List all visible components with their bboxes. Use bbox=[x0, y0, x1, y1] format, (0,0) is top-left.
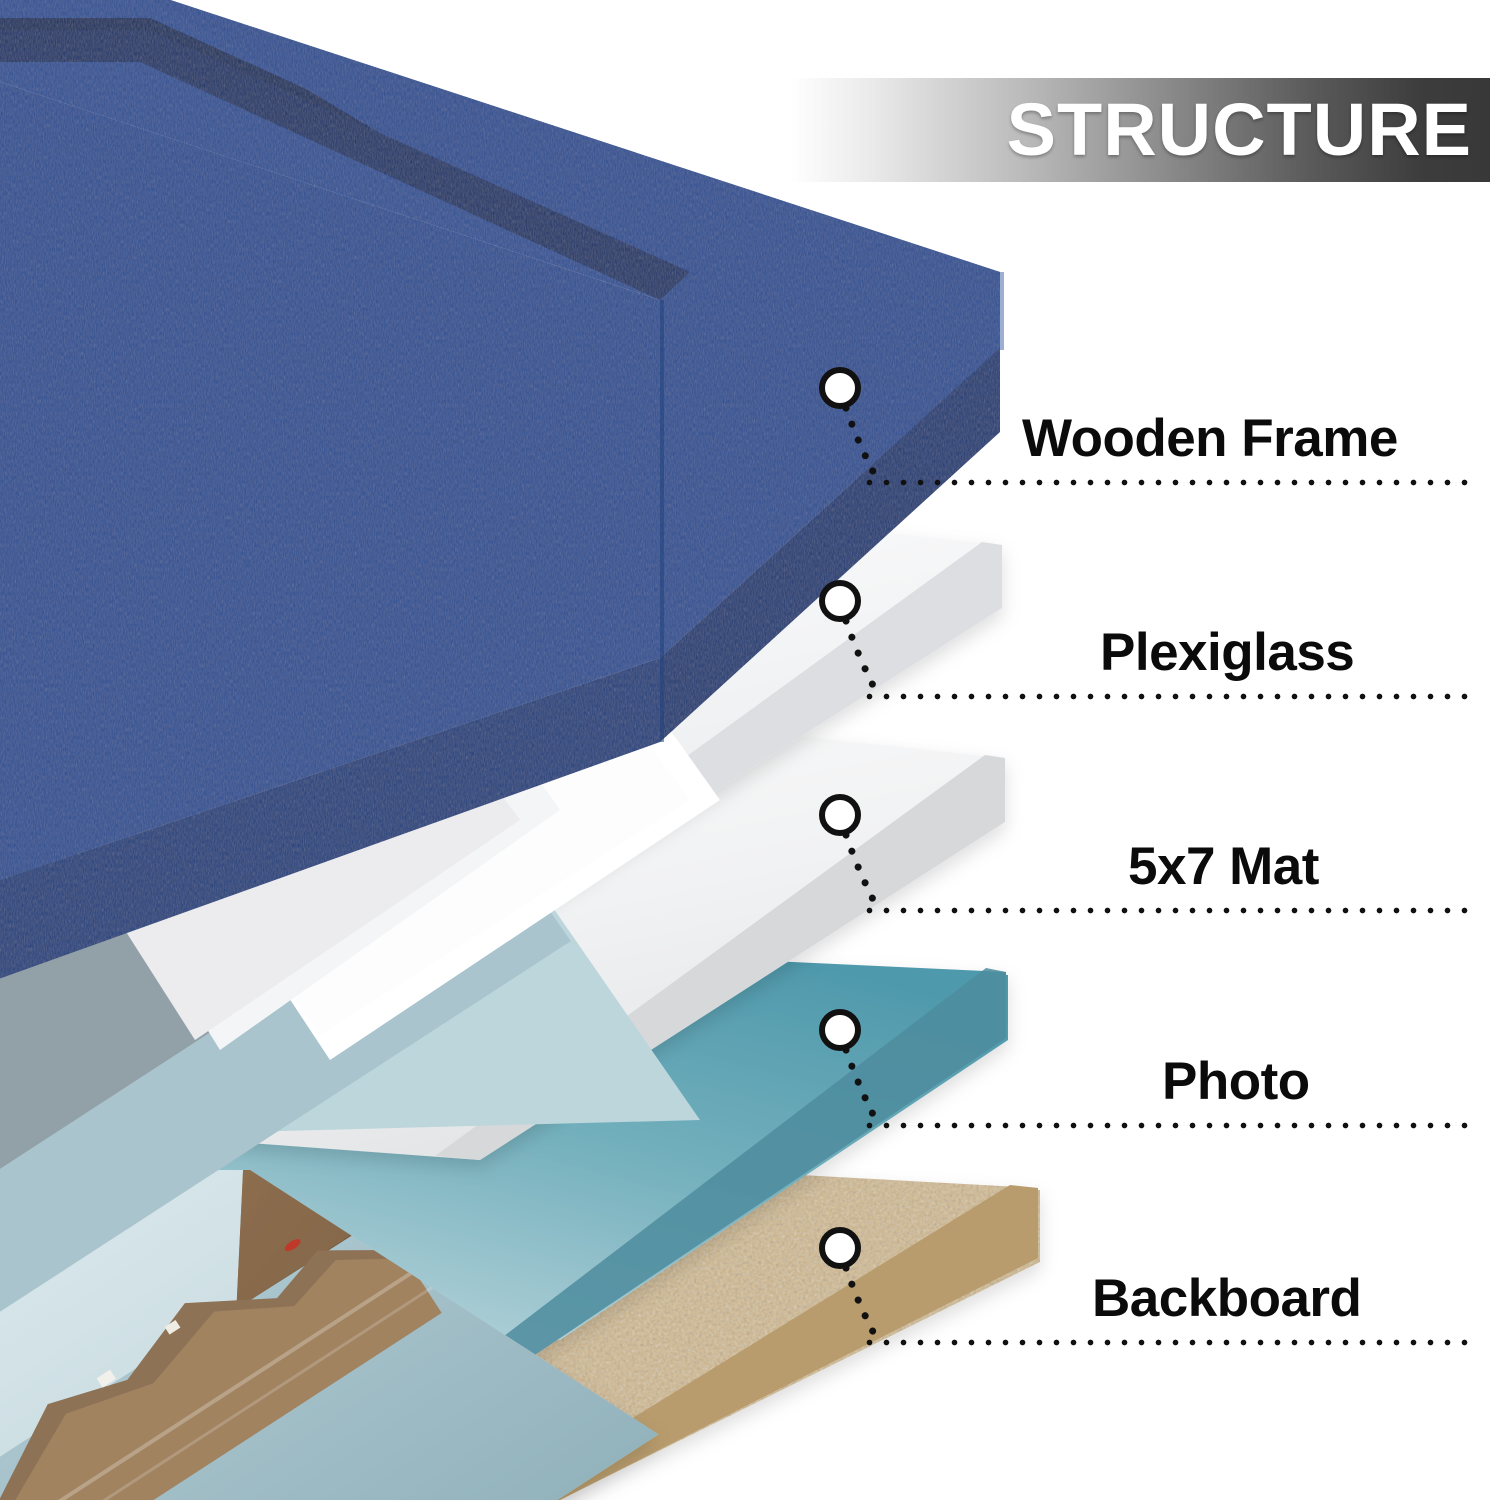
callout-rule-wooden-frame bbox=[866, 479, 1476, 486]
marker-wooden-frame bbox=[822, 370, 858, 406]
marker-mat bbox=[822, 797, 858, 833]
callout-label-mat: 5x7 Mat bbox=[1128, 840, 1319, 893]
callout-rule-plexiglass bbox=[866, 693, 1476, 700]
callout-label-backboard: Backboard bbox=[1092, 1272, 1361, 1325]
callout-label-photo: Photo bbox=[1162, 1055, 1310, 1108]
callout-rule-mat bbox=[866, 907, 1476, 914]
structure-infographic: STRUCTURE Wooden Frame Plexiglass 5x7 Ma… bbox=[0, 0, 1500, 1500]
banner-title: STRUCTURE bbox=[1007, 93, 1472, 167]
structure-banner: STRUCTURE bbox=[790, 78, 1490, 182]
marker-backboard bbox=[822, 1230, 858, 1266]
callout-rule-backboard bbox=[866, 1339, 1476, 1346]
callout-rule-photo bbox=[866, 1122, 1476, 1129]
marker-plexiglass bbox=[822, 583, 858, 619]
callout-label-plexiglass: Plexiglass bbox=[1100, 626, 1354, 679]
marker-photo bbox=[822, 1012, 858, 1048]
callout-label-wooden-frame: Wooden Frame bbox=[1022, 412, 1398, 465]
